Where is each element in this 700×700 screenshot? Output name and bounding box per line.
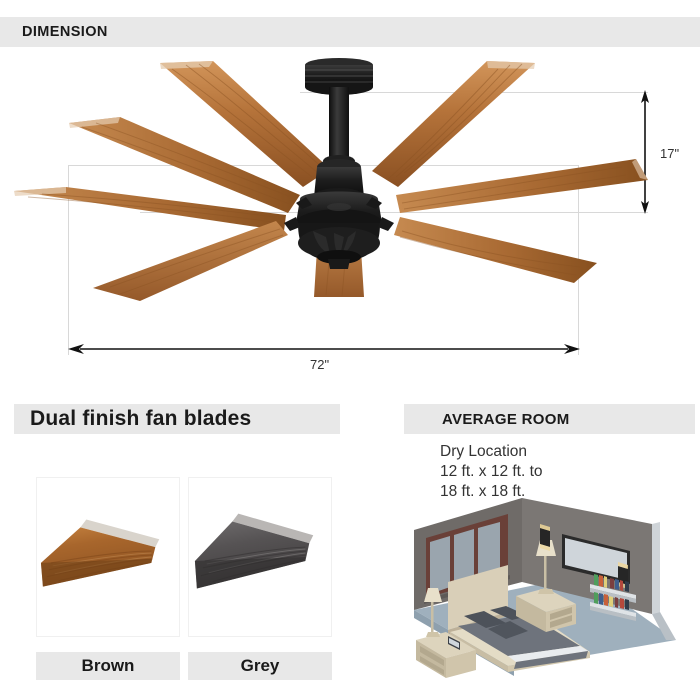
wood-blade-brown-icon bbox=[37, 478, 179, 636]
blade-swatch-brown[interactable] bbox=[36, 477, 180, 637]
fan-blade-lower-right bbox=[394, 217, 597, 283]
isometric-bedroom-icon bbox=[404, 490, 700, 695]
wood-blade-grey-icon bbox=[189, 478, 331, 636]
dimension-width-label: 72" bbox=[310, 357, 329, 372]
room-section-title: AVERAGE ROOM bbox=[442, 411, 570, 428]
blades-section-header: Dual finish fan blades bbox=[14, 404, 340, 434]
blade-swatch-grey[interactable] bbox=[188, 477, 332, 637]
blade-swatch-label-brown: Brown bbox=[36, 652, 180, 680]
blade-swatch-label-grey: Grey bbox=[188, 652, 332, 680]
dimension-section-title: DIMENSION bbox=[22, 24, 108, 40]
room-line-2: 12 ft. x 12 ft. to bbox=[440, 462, 690, 482]
blades-section-title: Dual finish fan blades bbox=[30, 407, 251, 431]
blade-swatch-name-brown: Brown bbox=[82, 656, 135, 676]
fan-blade-lower-left bbox=[93, 221, 288, 301]
ceiling-fan-icon bbox=[0, 47, 700, 347]
room-section-header: AVERAGE ROOM bbox=[404, 404, 695, 434]
dimension-section-header: DIMENSION bbox=[0, 17, 700, 47]
room-line-1: Dry Location bbox=[440, 442, 690, 462]
fan-downrod bbox=[323, 87, 355, 167]
blade-swatch-name-grey: Grey bbox=[241, 656, 280, 676]
fan-blade-right bbox=[396, 159, 648, 213]
fan-blade-upper-right bbox=[372, 61, 535, 187]
product-spec-sheet: DIMENSION 17" 72" bbox=[0, 0, 700, 700]
